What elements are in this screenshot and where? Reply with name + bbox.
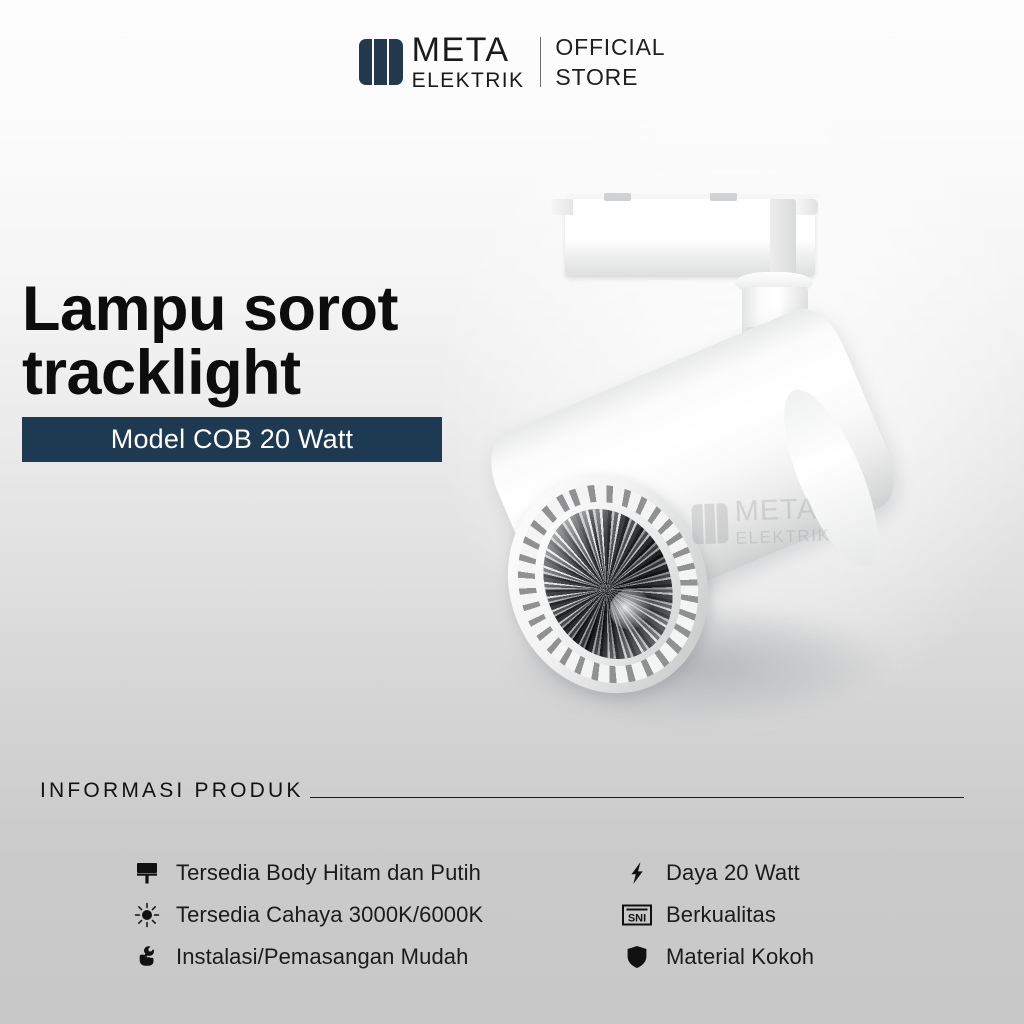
feature-column-left: Tersedia Body Hitam dan Putih [130,852,620,978]
brand-header: META ELEKTRIK OFFICIAL STORE [0,33,1024,91]
feature-label: Berkualitas [666,902,776,928]
feature-label: Tersedia Body Hitam dan Putih [176,860,481,886]
brand-name: META ELEKTRIK [412,33,525,91]
list-item: Tersedia Body Hitam dan Putih [130,852,620,894]
brand-name-line1: META [412,33,525,67]
store-line2: STORE [555,66,665,89]
track-contact-1 [604,193,631,201]
page-title: Lampu sorot tracklight [22,277,398,406]
model-banner: Model COB 20 Watt [22,417,442,462]
brand-watermark: META ELEKTRIK [691,495,831,549]
title-line-1: Lampu sorot [22,277,398,341]
watermark-line1: META [734,495,830,527]
feature-column-right: Daya 20 Watt SNI Berkualitas [620,852,950,978]
track-clip-left [551,199,573,215]
info-divider-rule [310,797,964,798]
feature-label: Tersedia Cahaya 3000K/6000K [176,902,483,928]
logo-divider [540,37,541,87]
list-item: SNI Berkualitas [620,894,950,936]
track-adapter-side [770,199,796,279]
sni-badge-icon: SNI [620,900,654,930]
feature-label: Instalasi/Pemasangan Mudah [176,944,468,970]
feature-list: Tersedia Body Hitam dan Putih [130,852,984,978]
watermark-text: META ELEKTRIK [734,495,831,547]
shield-icon [620,942,654,972]
list-item: Material Kokoh [620,936,950,978]
svg-text:SNI: SNI [628,913,646,925]
hand-wrench-icon [130,942,164,972]
store-line1: OFFICIAL [555,36,665,59]
brand-name-line2: ELEKTRIK [412,70,525,91]
three-bars-logo-icon [359,39,403,85]
feature-label: Daya 20 Watt [666,860,800,886]
info-section-title: INFORMASI PRODUK [40,779,304,803]
feature-label: Material Kokoh [666,944,814,970]
product-image: META ELEKTRIK [470,175,910,720]
lightning-bolt-icon [620,858,654,888]
paint-roller-icon [130,858,164,888]
official-store-label: OFFICIAL STORE [555,36,665,89]
watermark-line2: ELEKTRIK [735,527,831,547]
info-section-header: INFORMASI PRODUK [40,779,964,803]
track-contact-2 [710,193,737,201]
title-line-2: tracklight [22,341,398,405]
product-poster: META ELEKTRIK OFFICIAL STORE Lampu sorot… [0,0,1024,1024]
list-item: Tersedia Cahaya 3000K/6000K [130,894,620,936]
brand-logo: META ELEKTRIK OFFICIAL STORE [359,33,666,91]
sun-brightness-icon [130,900,164,930]
watermark-logo-icon [691,503,728,544]
list-item: Instalasi/Pemasangan Mudah [130,936,620,978]
list-item: Daya 20 Watt [620,852,950,894]
